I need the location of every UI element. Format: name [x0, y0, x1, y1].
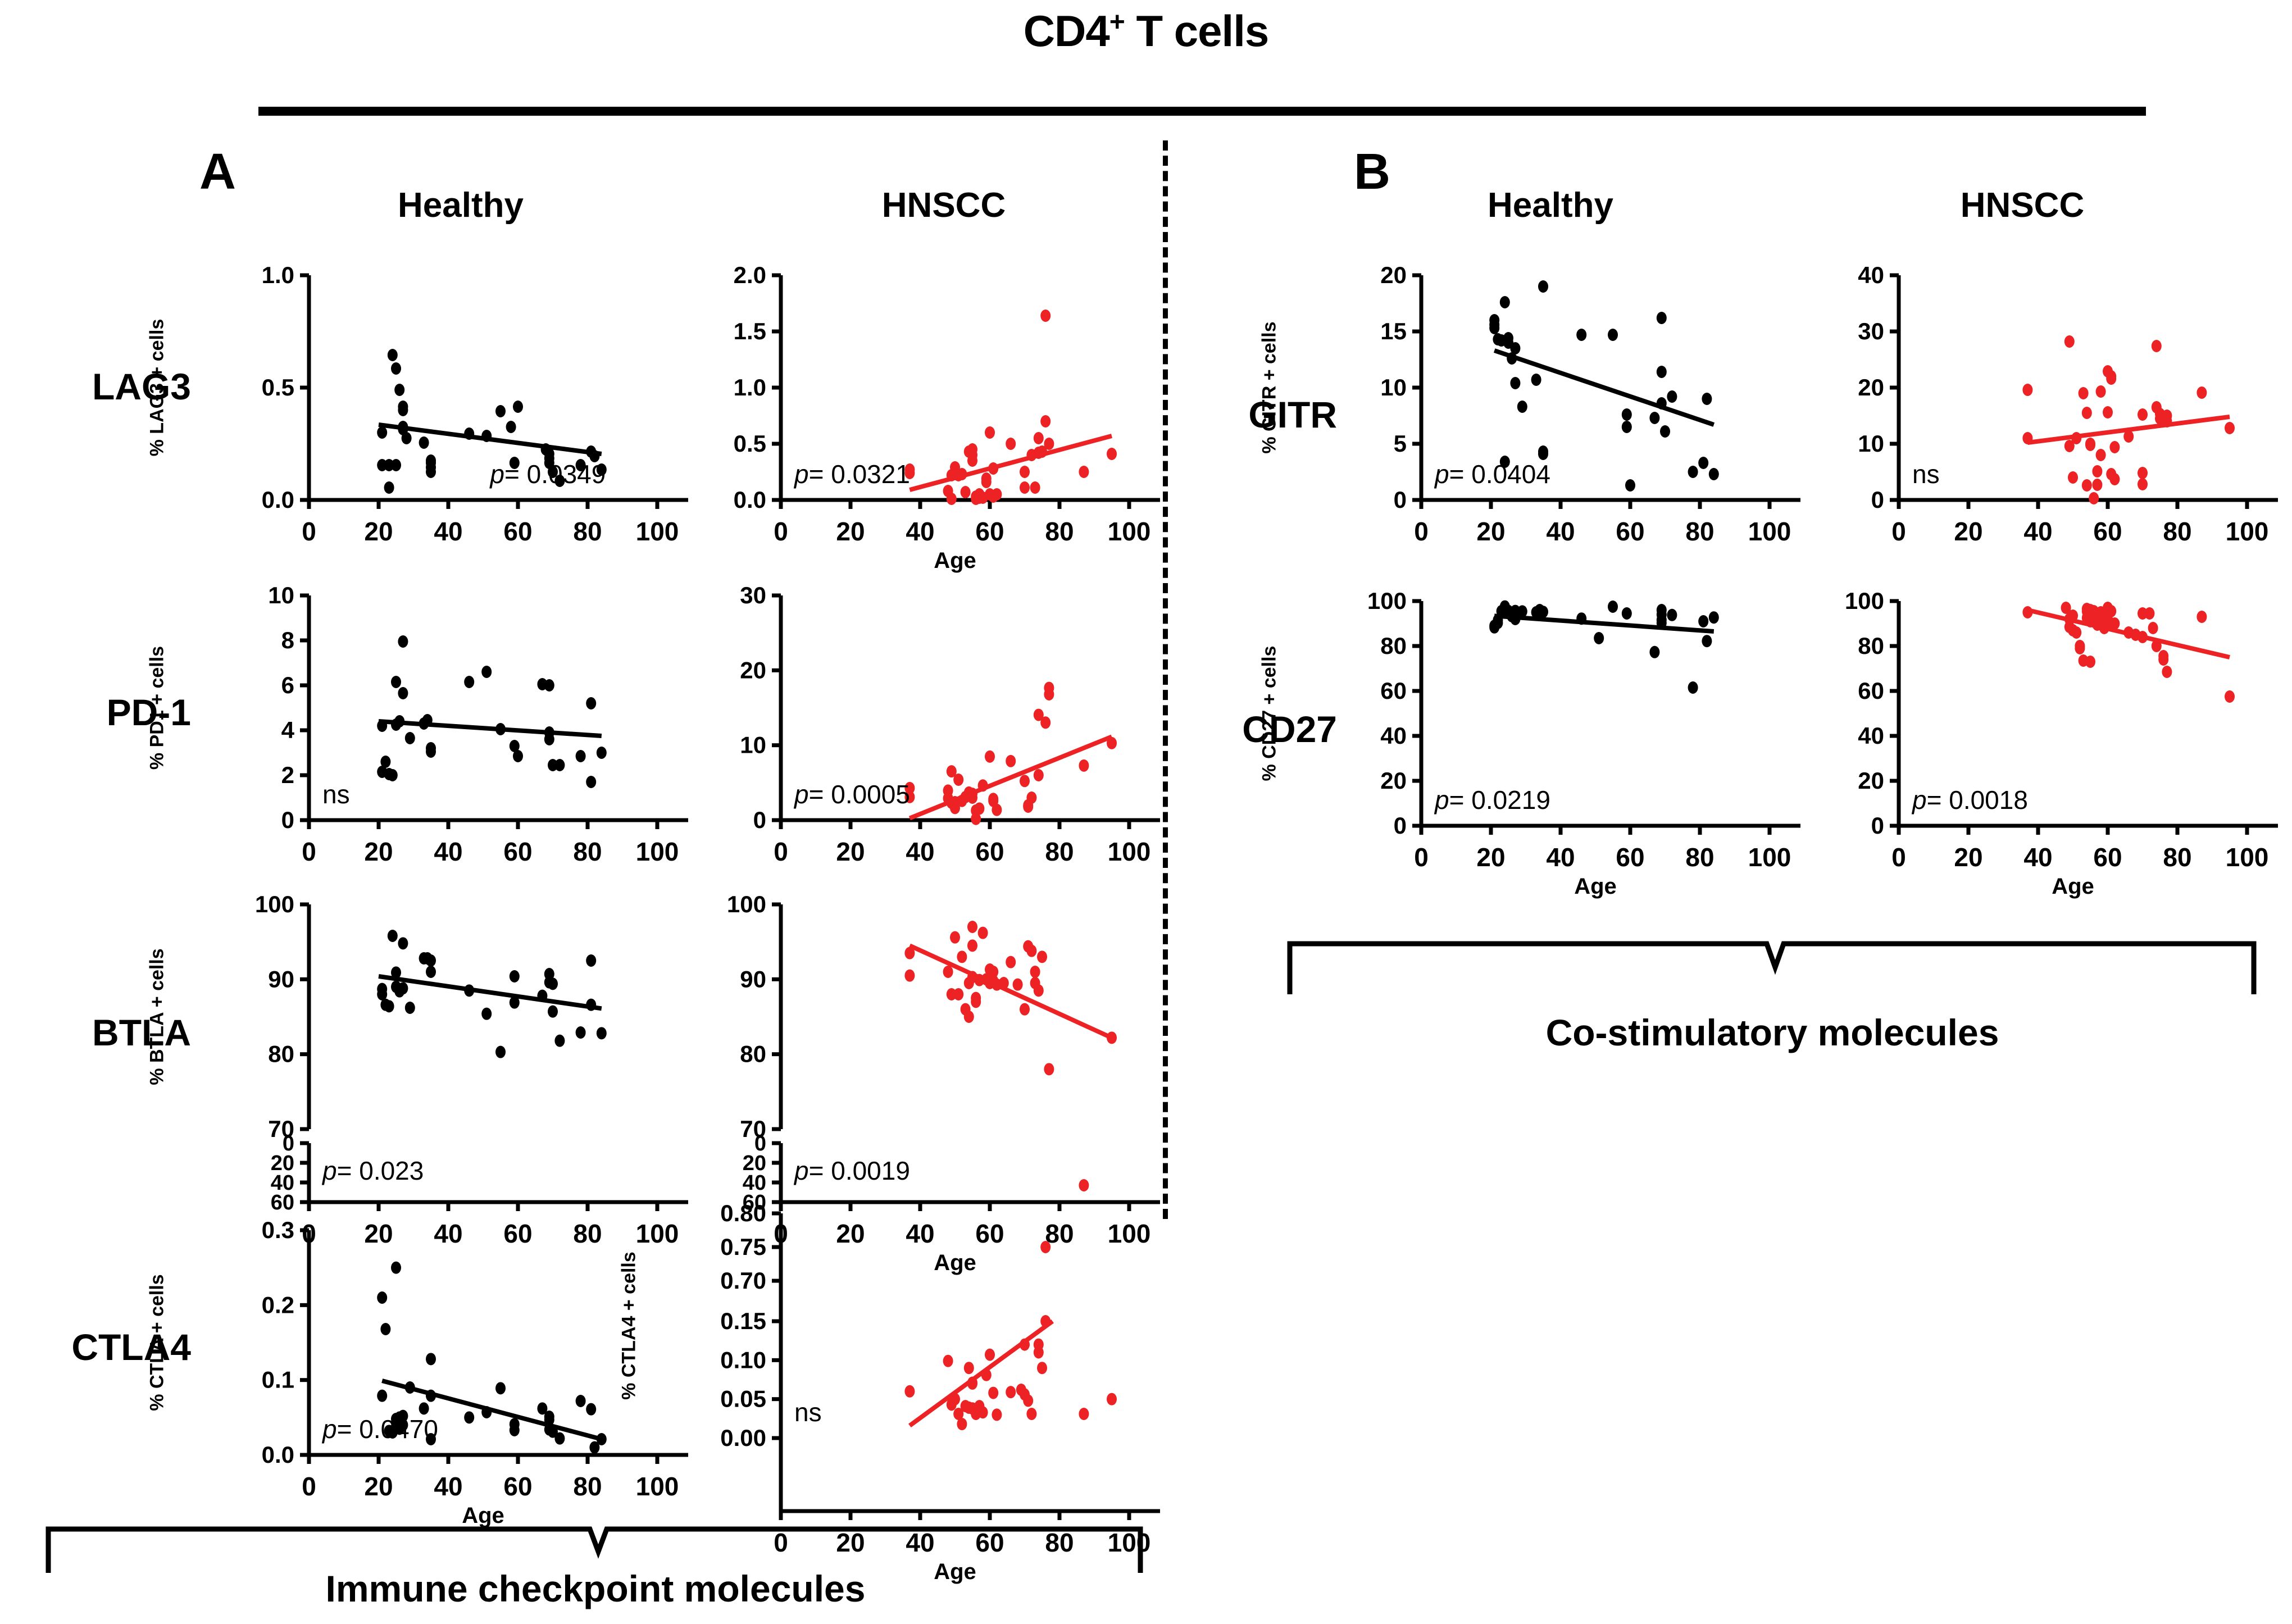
x-axis-label: Age	[781, 548, 1129, 574]
x-tick-label: 80	[573, 837, 602, 866]
data-point	[947, 493, 957, 505]
y-tick-label: 80	[268, 1041, 294, 1067]
data-point	[1020, 1339, 1030, 1351]
data-point	[978, 1406, 988, 1418]
data-point	[426, 745, 436, 758]
data-point	[391, 459, 401, 471]
data-point	[985, 426, 995, 439]
data-point	[1667, 390, 1677, 403]
data-point	[1020, 481, 1030, 494]
data-point	[1531, 374, 1541, 386]
y-tick-label: 2.0	[734, 262, 766, 288]
data-point	[405, 1002, 415, 1014]
data-point	[2106, 605, 2116, 617]
data-point	[1660, 425, 1670, 438]
y-tick-label: 0	[281, 807, 294, 833]
x-tick-label: 0	[1414, 517, 1429, 546]
data-point	[2158, 653, 2168, 666]
p-value-annotation: p= 0.0321	[793, 460, 910, 489]
data-point	[495, 405, 506, 417]
x-tick-label: 0	[302, 837, 316, 866]
scatter-points	[904, 921, 1117, 1191]
x-tick-label: 20	[364, 1472, 393, 1501]
x-tick-label: 40	[2023, 517, 2052, 546]
x-tick-label: 20	[836, 517, 865, 546]
x-tick-label: 20	[1954, 843, 1982, 872]
p-value-annotation: ns	[794, 1398, 822, 1427]
p-value-annotation: p= 0.0005	[793, 780, 910, 809]
x-tick-label: 20	[1476, 517, 1505, 546]
data-point	[1040, 415, 1050, 427]
data-point	[426, 954, 436, 967]
data-point	[510, 970, 520, 982]
p-value-annotation: p= 0.0219	[1434, 785, 1550, 815]
data-point	[2022, 432, 2032, 444]
data-point	[576, 1026, 586, 1039]
data-point	[1006, 755, 1016, 767]
figure-title-rest: T cells	[1125, 6, 1268, 56]
y-tick-label: 100	[1845, 588, 1884, 614]
data-point	[1657, 366, 1667, 378]
x-tick-label: 20	[364, 837, 393, 866]
y-tick-label: 30	[1858, 318, 1884, 344]
y-tick-label: 10	[740, 732, 766, 758]
y-tick-label: 90	[268, 966, 294, 992]
chart-pd1-hnscc: 0102030020406080100p= 0.0005	[697, 573, 1180, 893]
data-point	[1649, 412, 1659, 424]
y-tick-label-compressed: 0	[283, 1132, 294, 1156]
scatter-points	[904, 1241, 1117, 1430]
data-point	[377, 426, 387, 439]
y-tick-label: 0.15	[720, 1308, 766, 1334]
data-point	[2071, 626, 2081, 639]
x-tick-label: 100	[636, 517, 679, 546]
x-axis-label: Age	[1899, 874, 2247, 899]
data-point	[419, 436, 429, 449]
x-tick-label: 80	[2163, 843, 2191, 872]
y-tick-label: 40	[1380, 722, 1407, 749]
data-point	[2196, 611, 2207, 623]
data-point	[2144, 607, 2154, 620]
data-point	[967, 454, 977, 467]
data-point	[1667, 609, 1677, 621]
y-tick-label: 80	[740, 1041, 766, 1067]
y-tick-label: 0.5	[262, 374, 294, 401]
x-tick-label: 100	[2226, 843, 2269, 872]
data-point	[597, 1433, 607, 1445]
p-value-annotation: p= 0.0018	[1911, 785, 2028, 815]
y-tick-label: 0.0	[734, 486, 766, 513]
y-axis-label: % PD1 + cells	[147, 624, 169, 792]
data-point	[398, 982, 408, 994]
y-tick-label: 20	[1380, 767, 1407, 794]
bracket-b-label: Co-stimulatory molecules	[1286, 1011, 2258, 1054]
data-point	[1037, 950, 1047, 963]
data-point	[992, 804, 1002, 816]
y-axis-label: % CD27 + cells	[1259, 629, 1281, 798]
plot-canvas-cd27-hnscc: 020406080100020406080100p= 0.0018	[1814, 579, 2292, 899]
y-tick-label: 2	[281, 762, 294, 788]
regression-line	[909, 736, 1112, 818]
scatter-points	[377, 635, 607, 788]
data-point	[1034, 432, 1044, 444]
data-point	[1688, 466, 1698, 478]
data-point	[967, 443, 977, 456]
data-point	[978, 927, 988, 939]
data-point	[992, 1408, 1002, 1421]
data-point	[394, 715, 404, 727]
y-tick-label: 40	[1858, 262, 1884, 288]
data-point	[510, 1424, 520, 1436]
data-point	[988, 1387, 998, 1399]
data-point	[1709, 611, 1719, 624]
x-tick-label: 0	[302, 1472, 316, 1501]
x-tick-label: 40	[1546, 517, 1575, 546]
data-point	[377, 720, 387, 732]
data-point	[391, 1262, 401, 1274]
data-point	[1493, 617, 1503, 629]
data-point	[1044, 688, 1054, 700]
plot-canvas-gitr-healthy: 05101520020406080100p= 0.0404	[1337, 253, 1820, 573]
data-point	[2085, 656, 2095, 668]
data-point	[464, 427, 474, 440]
data-point	[974, 802, 984, 815]
data-point	[1622, 408, 1632, 421]
data-point	[1079, 759, 1089, 772]
data-point	[1688, 681, 1698, 694]
y-tick-label: 0.75	[720, 1234, 766, 1260]
y-tick-label: 8	[281, 627, 294, 653]
data-point	[964, 1011, 974, 1023]
y-tick-label: 20	[1380, 262, 1407, 288]
data-point	[537, 990, 547, 1002]
data-point	[1538, 280, 1548, 293]
p-value-annotation: p= 0.023	[321, 1156, 424, 1185]
y-tick-label: 6	[281, 672, 294, 698]
data-point	[2103, 406, 2113, 418]
data-point	[967, 1377, 977, 1389]
data-point	[1030, 481, 1040, 494]
data-point	[1006, 438, 1016, 450]
x-tick-label: 80	[1685, 843, 1714, 872]
y-tick-label: 0.0	[262, 486, 294, 513]
data-point	[464, 984, 474, 997]
data-point	[544, 679, 554, 692]
data-point	[2068, 609, 2078, 622]
data-point	[1026, 945, 1036, 957]
x-tick-label: 60	[2093, 843, 2122, 872]
x-tick-label: 20	[364, 517, 393, 546]
regression-line	[1494, 351, 1714, 425]
data-point	[1034, 984, 1044, 997]
data-point	[2138, 467, 2148, 479]
plot-canvas-pd1-hnscc: 0102030020406080100p= 0.0005	[697, 573, 1180, 893]
data-point	[506, 421, 516, 433]
x-tick-label: 100	[1108, 837, 1151, 866]
x-tick-label: 40	[1546, 843, 1575, 872]
y-tick-label: 0	[1871, 812, 1884, 839]
data-point	[1510, 377, 1520, 389]
chart-lag3-hnscc: 0.00.51.01.52.0020406080100p= 0.0321Age	[697, 253, 1180, 573]
data-point	[2109, 617, 2120, 630]
data-point	[1489, 314, 1499, 326]
y-axis-label: % LAG3 + cells	[147, 303, 169, 472]
data-point	[2123, 430, 2134, 443]
y-tick-label: 0.1	[262, 1367, 294, 1393]
x-tick-label: 40	[434, 1472, 462, 1501]
x-tick-label: 20	[1954, 517, 1982, 546]
p-value-annotation: p= 0.0019	[793, 1156, 910, 1185]
data-point	[1538, 448, 1548, 460]
data-point	[2064, 335, 2075, 348]
data-point	[1594, 632, 1604, 644]
data-point	[405, 732, 415, 744]
panel-a-letter: A	[199, 143, 236, 201]
data-point	[380, 756, 390, 768]
chart-cd27-healthy: 020406080100020406080100p= 0.0219% CD27 …	[1337, 579, 1820, 899]
data-point	[1622, 421, 1632, 433]
bracket-costimulatory	[1286, 927, 2258, 1000]
data-point	[2106, 372, 2116, 385]
data-point	[2022, 384, 2032, 396]
figure-title-main: CD4	[1024, 6, 1109, 56]
data-point	[1576, 329, 1586, 341]
data-point	[391, 676, 401, 688]
figure-title: CD4+ T cells	[0, 6, 2292, 57]
data-point	[495, 1382, 506, 1394]
x-tick-label: 100	[636, 837, 679, 866]
data-point	[586, 776, 596, 788]
plot-canvas-lag3-hnscc: 0.00.51.01.52.0020406080100p= 0.0321	[697, 253, 1180, 573]
chart-gitr-healthy: 05101520020406080100p= 0.0404% GITR + ce…	[1337, 253, 1820, 573]
x-tick-label: 20	[836, 837, 865, 866]
data-point	[586, 697, 596, 709]
data-point	[1037, 1362, 1047, 1374]
data-point	[1107, 737, 1117, 749]
y-tick-label: 1.0	[734, 374, 766, 401]
data-point	[513, 401, 523, 413]
data-point	[495, 1046, 506, 1058]
y-tick-label: 90	[740, 966, 766, 992]
data-point	[992, 488, 1002, 501]
data-point	[554, 759, 565, 771]
x-tick-label: 0	[1891, 843, 1906, 872]
data-point	[586, 954, 596, 967]
x-tick-label: 60	[975, 517, 1004, 546]
data-point	[950, 1393, 960, 1405]
y-tick-label: 0.5	[734, 430, 766, 457]
data-point	[1649, 646, 1659, 658]
data-point	[597, 1027, 607, 1039]
data-point	[1040, 1241, 1050, 1253]
data-point	[481, 1406, 492, 1418]
y-tick-label: 80	[1858, 633, 1884, 659]
y-tick-label-compressed: 0	[754, 1132, 766, 1156]
data-point	[388, 349, 398, 361]
x-tick-label: 40	[434, 517, 462, 546]
y-tick-label: 40	[1858, 722, 1884, 749]
data-point	[1510, 342, 1520, 354]
data-point	[971, 995, 981, 1008]
p-value-annotation: p= 0.0470	[321, 1414, 438, 1444]
data-point	[967, 791, 977, 804]
data-point	[481, 1008, 492, 1020]
p-value-annotation: ns	[1912, 460, 1940, 489]
y-tick-label: 0.05	[720, 1386, 766, 1412]
y-tick-label: 1.5	[734, 318, 766, 344]
y-tick-label: 80	[1380, 633, 1407, 659]
data-point	[961, 486, 971, 498]
x-tick-label: 100	[2226, 517, 2269, 546]
data-point	[481, 666, 492, 678]
data-point	[2148, 622, 2158, 634]
x-tick-label: 80	[2163, 517, 2191, 546]
p-value-annotation: ns	[322, 780, 350, 809]
y-tick-label: 0.00	[720, 1425, 766, 1451]
data-point	[2196, 386, 2207, 399]
plot-canvas-pd1-healthy: 0246810020406080100ns	[225, 573, 708, 893]
data-point	[2082, 407, 2092, 419]
x-tick-label: 0	[774, 837, 788, 866]
x-tick-label: 40	[2023, 843, 2052, 872]
data-point	[513, 750, 523, 762]
data-point	[394, 384, 404, 396]
data-point	[2079, 387, 2089, 399]
data-point	[953, 988, 963, 1000]
data-point	[1107, 1031, 1117, 1044]
data-point	[1702, 635, 1712, 647]
data-point	[2082, 479, 2092, 492]
data-point	[953, 774, 963, 786]
data-point	[957, 950, 967, 963]
data-point	[2071, 432, 2081, 444]
x-tick-label: 20	[1476, 843, 1505, 872]
data-point	[1079, 1408, 1089, 1420]
data-point	[398, 635, 408, 648]
data-point	[388, 769, 398, 781]
data-point	[422, 714, 433, 726]
x-tick-label: 80	[573, 1472, 602, 1501]
x-tick-label: 60	[503, 517, 532, 546]
y-tick-label: 1.0	[262, 262, 294, 288]
chart-lag3-healthy: 0.00.51.0020406080100p= 0.0349% LAG3 + c…	[225, 253, 708, 573]
panel-a-column-header-healthy: Healthy	[303, 185, 618, 225]
data-point	[391, 966, 401, 979]
data-point	[1040, 1315, 1050, 1327]
y-tick-label: 20	[740, 657, 766, 683]
x-tick-label: 80	[1045, 837, 1074, 866]
data-point	[943, 966, 953, 978]
x-tick-label: 100	[636, 1472, 679, 1501]
y-tick-label: 10	[1858, 430, 1884, 457]
data-point	[999, 977, 1009, 989]
x-tick-label: 100	[1748, 517, 1791, 546]
data-point	[1657, 397, 1667, 410]
data-point	[398, 937, 408, 949]
data-point	[388, 930, 398, 942]
data-point	[950, 931, 960, 944]
data-point	[1040, 310, 1050, 322]
y-tick-label: 5	[1394, 430, 1407, 457]
y-tick-label: 0.3	[262, 1217, 294, 1243]
x-tick-label: 60	[1616, 843, 1644, 872]
panel-b-column-header-hnscc: HNSCC	[1865, 185, 2180, 225]
figure-title-superscript: +	[1109, 7, 1125, 37]
data-point	[402, 432, 412, 444]
data-point	[967, 921, 977, 933]
data-point	[377, 1390, 387, 1402]
chart-pd1-healthy: 0246810020406080100ns% PD1 + cells	[225, 573, 708, 893]
data-point	[2138, 478, 2148, 490]
y-tick-label: 30	[740, 582, 766, 608]
data-point	[1013, 979, 1023, 991]
data-point	[2162, 666, 2172, 678]
y-tick-label: 0.80	[720, 1200, 766, 1226]
data-point	[1044, 1063, 1054, 1075]
data-point	[2092, 479, 2102, 491]
y-tick-label: 10	[1380, 374, 1407, 401]
scatter-points	[904, 682, 1117, 825]
x-tick-label: 80	[1685, 517, 1714, 546]
p-value-annotation: p= 0.0349	[489, 460, 606, 489]
data-point	[384, 1000, 394, 1012]
data-point	[985, 750, 995, 763]
data-point	[2152, 340, 2162, 352]
p-value-annotation: p= 0.0404	[1434, 460, 1550, 489]
data-point	[2225, 422, 2235, 434]
y-tick-label: 0	[1871, 486, 1884, 513]
data-point	[904, 1385, 915, 1398]
y-axis-label: % CTLA4 + cells	[619, 1241, 640, 1410]
data-point	[1020, 1003, 1030, 1016]
data-point	[2152, 640, 2162, 652]
y-tick-label: 0	[1394, 812, 1407, 839]
data-point	[398, 687, 408, 699]
title-underline	[258, 107, 2146, 116]
data-point	[391, 362, 401, 375]
data-point	[426, 1353, 436, 1365]
data-point	[1576, 612, 1586, 625]
data-point	[1107, 448, 1117, 460]
data-point	[2225, 690, 2235, 703]
scatter-points	[904, 310, 1117, 505]
data-point	[405, 1381, 415, 1394]
data-point	[419, 1402, 429, 1414]
y-tick-label: 0	[753, 807, 766, 833]
data-point	[967, 939, 977, 952]
data-point	[2068, 471, 2078, 484]
data-point	[904, 947, 915, 959]
y-tick-label: 20	[1858, 767, 1884, 794]
data-point	[985, 1349, 995, 1361]
x-tick-label: 60	[503, 1472, 532, 1501]
data-point	[1657, 617, 1667, 629]
data-point	[1034, 1346, 1044, 1358]
y-tick-label: 60	[1858, 677, 1884, 704]
data-point	[548, 1006, 558, 1018]
data-point	[464, 676, 474, 688]
data-point	[426, 466, 436, 478]
data-point	[2138, 408, 2148, 421]
data-point	[1538, 606, 1548, 618]
data-point	[481, 430, 492, 442]
x-tick-label: 0	[1891, 517, 1906, 546]
x-tick-label: 60	[2093, 517, 2122, 546]
data-point	[1625, 479, 1635, 492]
data-point	[544, 733, 554, 745]
data-point	[2096, 449, 2106, 461]
data-point	[2138, 631, 2148, 643]
